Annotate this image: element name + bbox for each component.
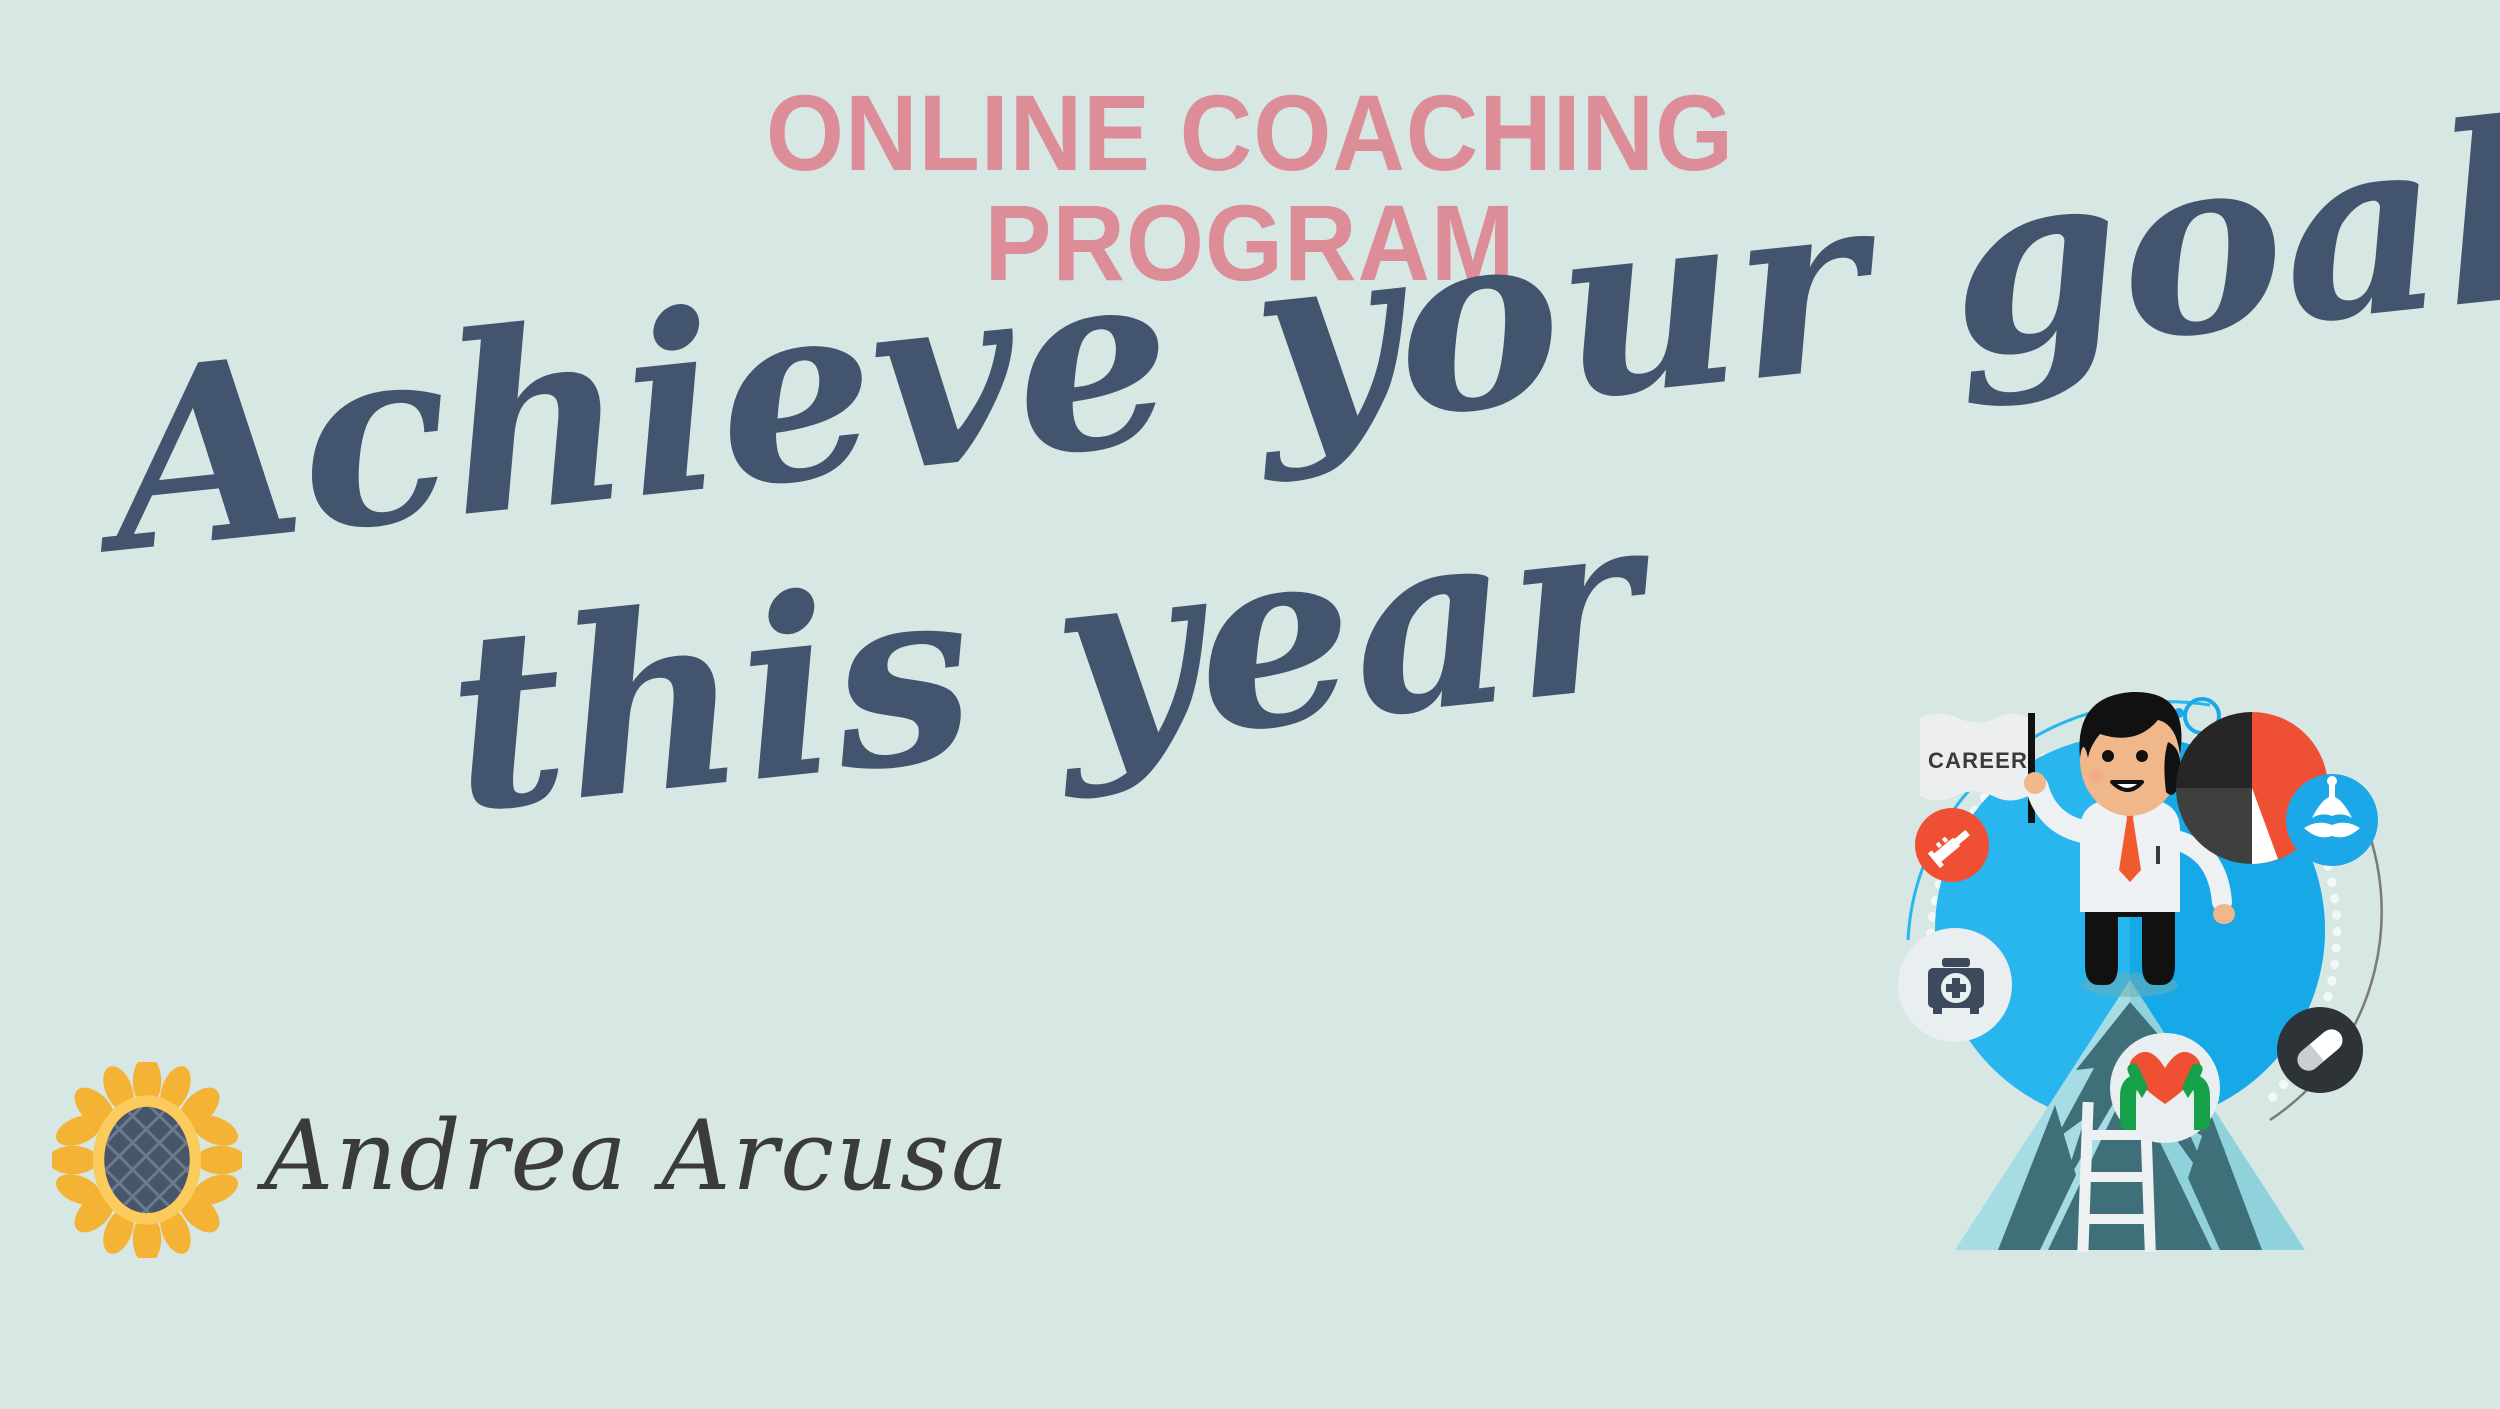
person-eye-right: [2136, 750, 2148, 762]
program-title-line-2: PROGRAM: [88, 188, 2413, 298]
brand-name: Andrea Arcusa: [264, 1108, 1010, 1204]
headline: Achieve your goals this year: [90, 250, 1510, 970]
program-title: ONLINE COACHING PROGRAM: [88, 78, 2413, 298]
flag-label: CAREER: [1928, 748, 2028, 773]
heart-in-hands-icon: [2110, 1033, 2220, 1143]
person-hand-right: [2213, 904, 2235, 924]
brand-signature: Andrea Arcusa: [52, 1062, 1010, 1258]
program-title-line-1: ONLINE COACHING: [88, 78, 2413, 188]
medical-book-icon: [2286, 774, 2378, 866]
headline-svg: Achieve your goals this year: [90, 250, 1510, 970]
poster-canvas: ONLINE COACHING PROGRAM Achieve your goa…: [0, 0, 2500, 1409]
illustration-svg: CAREER: [1880, 650, 2500, 1280]
syringe-icon: [1915, 808, 1989, 882]
sunflower-icon: [52, 1062, 242, 1258]
headline-line-2: this year: [436, 455, 1668, 868]
person-eye-left: [2102, 750, 2114, 762]
career-goal-illustration: CAREER: [1880, 650, 2500, 1280]
person-hand-left: [2024, 772, 2046, 794]
pill-capsule-icon: [2277, 1007, 2363, 1093]
first-aid-kit-icon: [1898, 928, 2012, 1042]
